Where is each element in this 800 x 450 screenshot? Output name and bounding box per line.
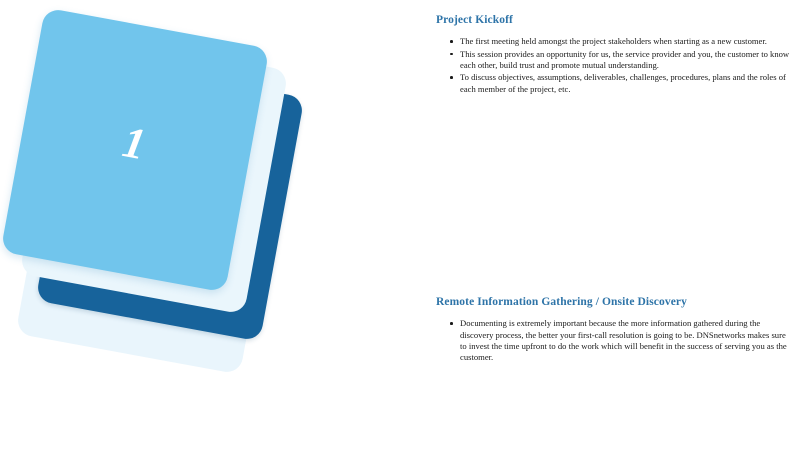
section-heading-remote-information-gathering: Remote Information Gathering / Onsite Di…	[436, 296, 792, 309]
stacked-cards-illustration: 1	[0, 0, 420, 450]
card-step-number: 1	[119, 120, 149, 167]
list-item: This session provides an opportunity for…	[460, 49, 792, 72]
bullet-list-remote-information-gathering: Documenting is extremely important becau…	[436, 318, 792, 363]
stack-card-top-light-blue: 1	[0, 7, 269, 292]
bullet-list-project-kickoff: The first meeting held amongst the proje…	[436, 36, 792, 95]
slide-canvas: 1 Project Kickoff The first meeting held…	[0, 0, 800, 450]
section-project-kickoff: Project Kickoff The first meeting held a…	[436, 14, 792, 96]
content-column: Project Kickoff The first meeting held a…	[436, 0, 792, 450]
list-item: To discuss objectives, assumptions, deli…	[460, 72, 792, 95]
list-item: The first meeting held amongst the proje…	[460, 36, 792, 47]
list-item: Documenting is extremely important becau…	[460, 318, 792, 363]
section-remote-information-gathering: Remote Information Gathering / Onsite Di…	[436, 296, 792, 365]
section-heading-project-kickoff: Project Kickoff	[436, 14, 792, 27]
